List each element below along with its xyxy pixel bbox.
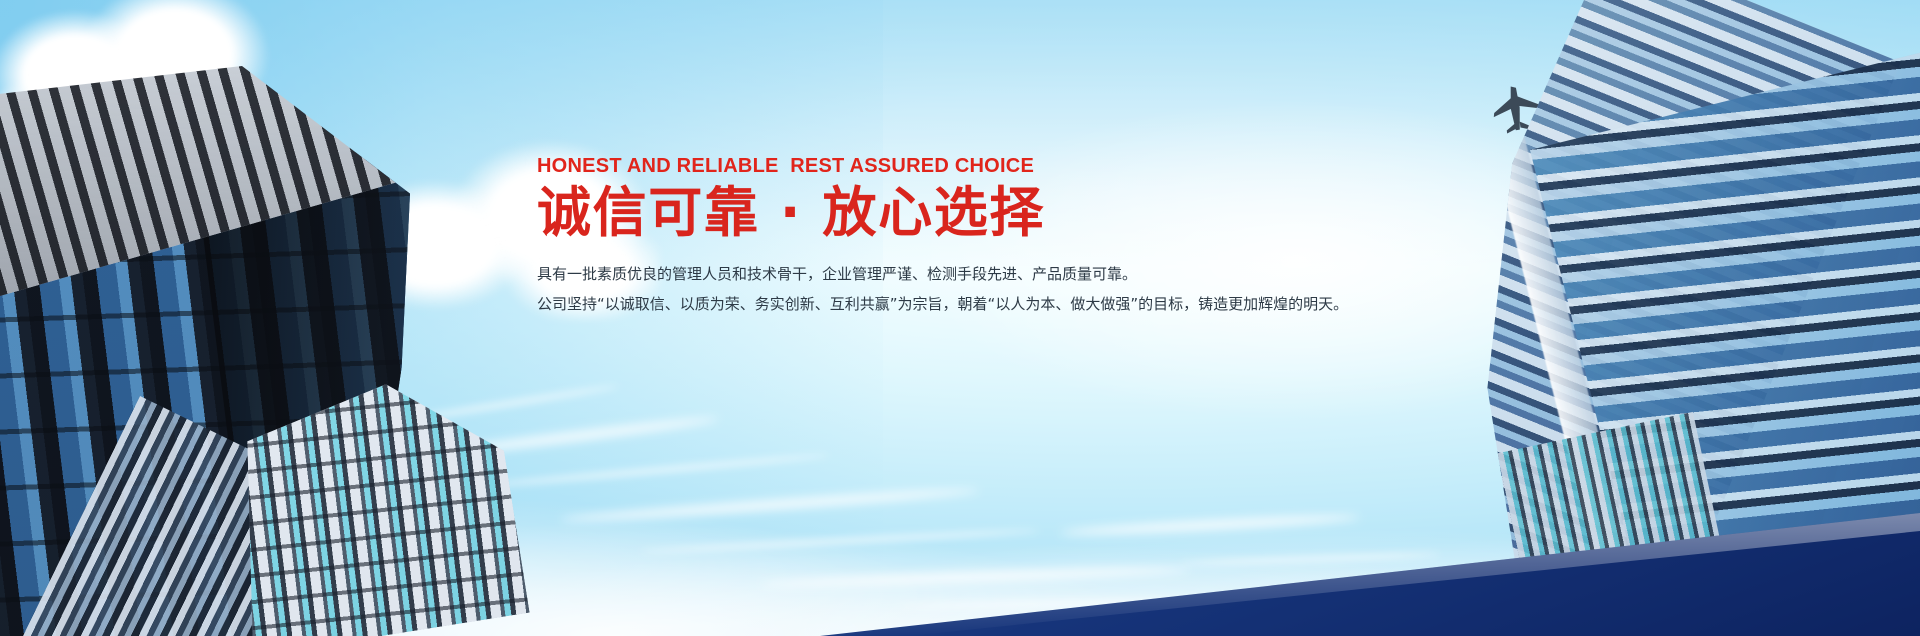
banner-body-line-1: 具有一批素质优良的管理人员和技术骨干，企业管理严谨、检测手段先进、产品质量可靠。 bbox=[537, 259, 1377, 289]
banner-body-line-2: 公司坚持“以诚取信、以质为荣、务实创新、互利共赢”为宗旨，朝着“以人为本、做大做… bbox=[537, 289, 1377, 319]
banner-copy-block: HONEST AND RELIABLE REST ASSURED CHOICE … bbox=[537, 155, 1377, 319]
banner-headline-chinese: 诚信可靠 · 放心选择 bbox=[537, 183, 1377, 243]
banner-eyebrow-english: HONEST AND RELIABLE REST ASSURED CHOICE bbox=[537, 155, 1377, 177]
hero-banner: HONEST AND RELIABLE REST ASSURED CHOICE … bbox=[0, 0, 1920, 636]
